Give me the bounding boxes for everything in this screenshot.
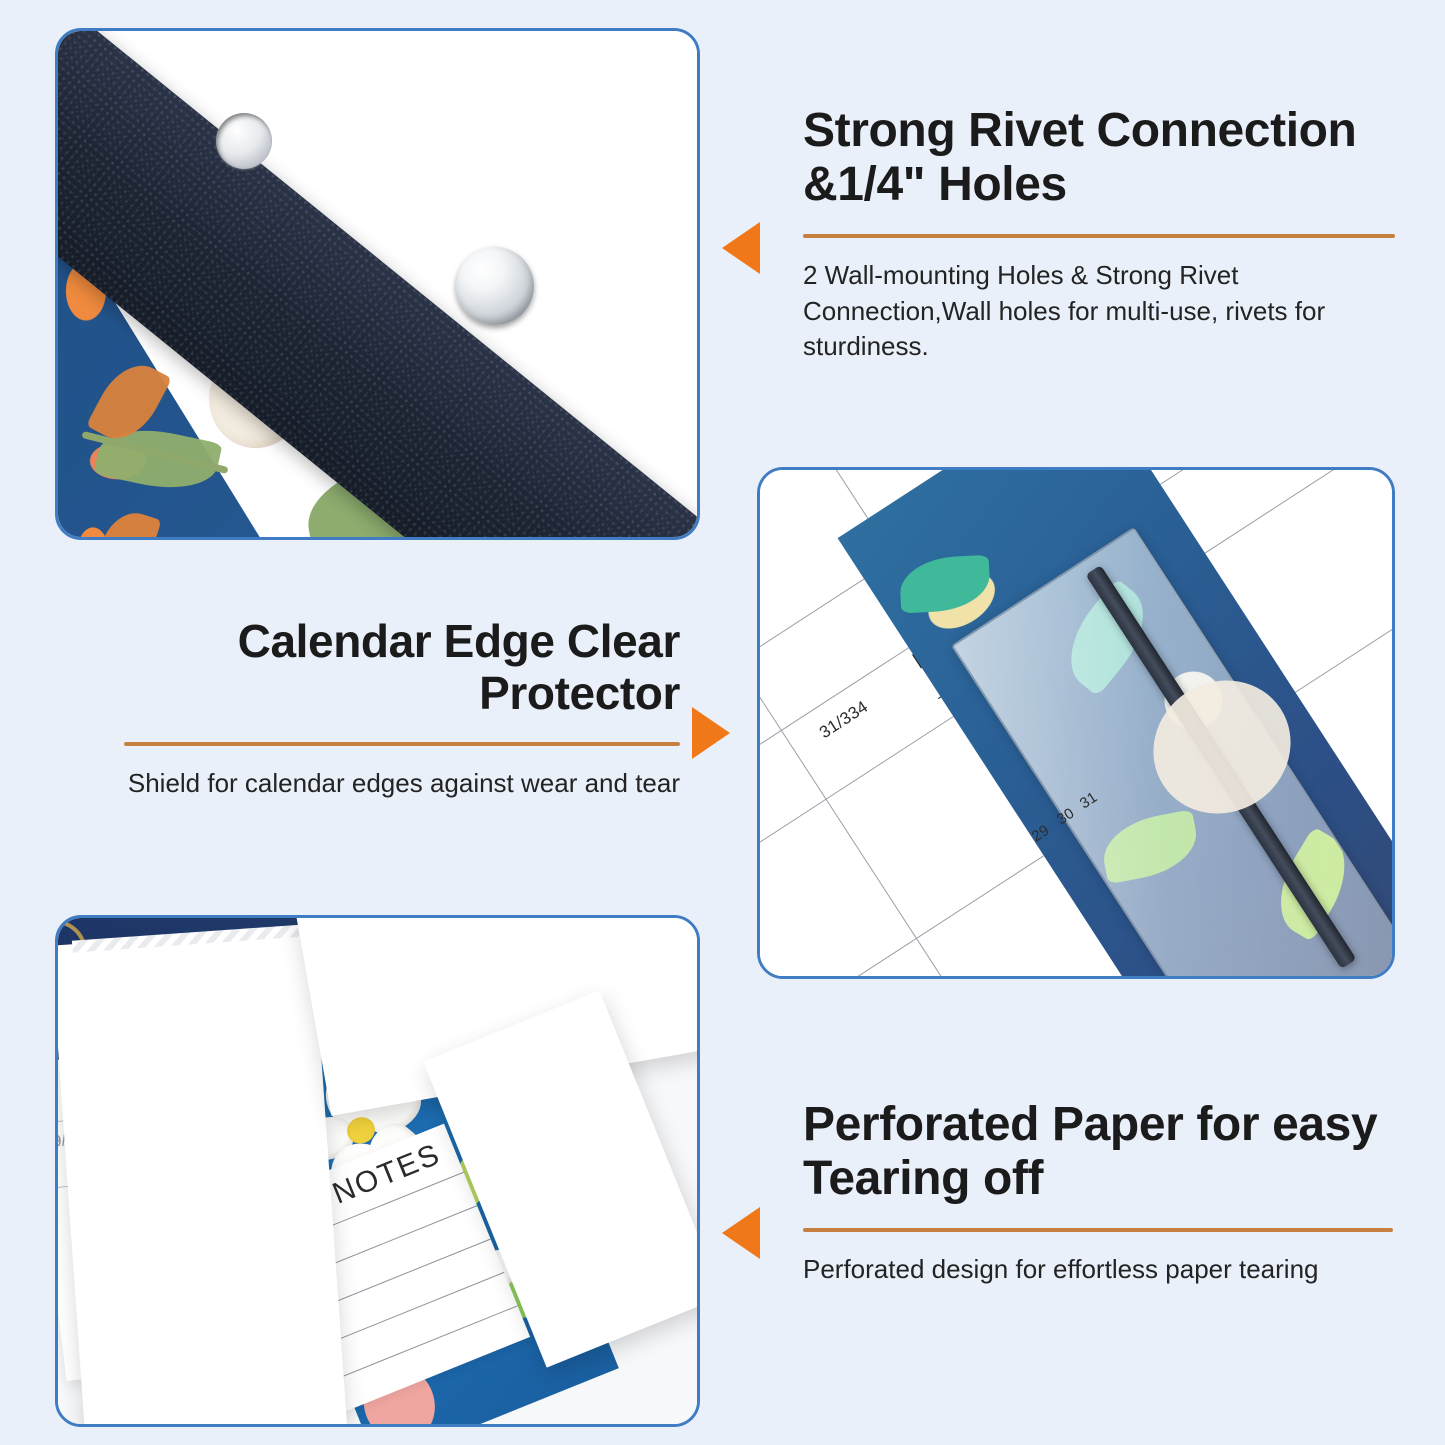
- photo-rivet-connection: [55, 28, 700, 540]
- arrow-right-icon: [692, 707, 730, 759]
- infographic-canvas: 31/334 February 2026 S M T W T F S: [0, 0, 1445, 1445]
- feature-block-protector: Calendar Edge Clear Protector Shield for…: [124, 616, 680, 801]
- feature-body-rivet: 2 Wall-mounting Holes & Strong Rivet Con…: [803, 258, 1395, 363]
- divider-rule: [803, 234, 1395, 238]
- arrow-left-icon: [722, 1207, 760, 1259]
- feature-heading-rivet: Strong Rivet Connection &1/4" Holes: [803, 104, 1395, 212]
- divider-rule: [803, 1228, 1393, 1232]
- feature-heading-protector: Calendar Edge Clear Protector: [124, 616, 680, 720]
- divider-rule: [124, 742, 680, 746]
- arrow-left-icon: [722, 222, 760, 274]
- leaf-shape: [899, 555, 992, 614]
- photo-edge-protector: 31/334 February 2026 S M T W T F S: [757, 467, 1395, 979]
- wall-mounting-hole: [216, 113, 272, 169]
- feature-block-rivet: Strong Rivet Connection &1/4" Holes 2 Wa…: [803, 104, 1395, 364]
- metal-rivet: [456, 247, 534, 325]
- torn-calendar-sheet: [58, 927, 347, 1424]
- feature-body-protector: Shield for calendar edges against wear a…: [124, 766, 680, 801]
- feature-heading-perforated: Perforated Paper for easy Tearing off: [803, 1098, 1393, 1206]
- feature-body-perforated: Perforated design for effortless paper t…: [803, 1252, 1393, 1287]
- photo-perforated-paper: 9/26: [55, 915, 700, 1427]
- feature-block-perforated: Perforated Paper for easy Tearing off Pe…: [803, 1098, 1393, 1288]
